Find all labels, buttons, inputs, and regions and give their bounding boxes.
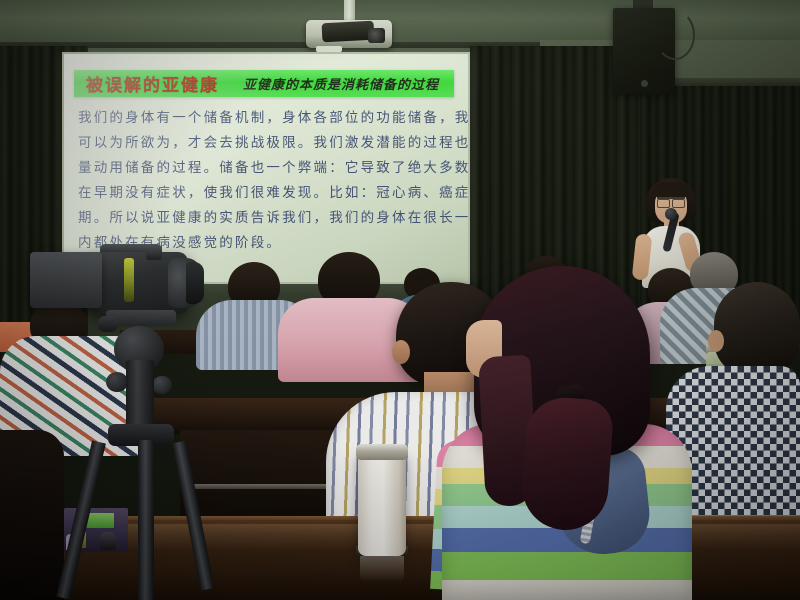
tripod-center-column <box>126 360 154 430</box>
lecture-hall-photo: 被误解的亚健康 亚健康的本质是消耗储备的过程 我们的身体有一个储备机制，身体各部… <box>0 0 800 600</box>
foreground-shadow-left <box>0 430 64 600</box>
slide-line: 量动用储备的过程。储备也一个弊端：它导致了绝大多数疾病 <box>78 156 454 181</box>
tripod-lock-knob-right[interactable] <box>152 376 172 394</box>
slide-line: 期。所以说亚健康的实质告诉我们，我们的身体在很长一段时 <box>78 206 454 231</box>
projector-lens <box>368 28 385 43</box>
slide-body-text: 我们的身体有一个储备机制，身体各部位的功能储备，我们才 可以为所欲为，才会去挑战… <box>78 106 454 256</box>
camcorder-record-button[interactable] <box>146 250 162 260</box>
presenter-fringe <box>652 182 690 197</box>
slide-banner: 被误解的亚健康 亚健康的本质是消耗储备的过程 <box>74 70 454 97</box>
slide-title: 被误解的亚健康 <box>86 71 219 96</box>
microphone-head-icon <box>665 208 677 220</box>
projector-cables <box>322 21 375 43</box>
attendee-ponytail <box>520 395 615 533</box>
lcd-figure <box>100 532 116 550</box>
thermos-reflection <box>360 556 404 582</box>
lcd-screen-reflection <box>86 513 114 528</box>
thermos-cap <box>356 444 408 460</box>
projector-mount-pole <box>344 0 355 22</box>
white-thermos-flask <box>358 452 406 556</box>
camcorder-lcd-housing <box>30 252 102 308</box>
camera-lens-hood <box>186 262 204 304</box>
tripod-leg <box>138 440 154 600</box>
speaker-driver-icon <box>641 80 648 87</box>
attendee-ear <box>392 340 410 364</box>
eyeglasses-icon <box>657 197 685 207</box>
slide-subtitle: 亚健康的本质是消耗储备的过程 <box>243 74 439 93</box>
slide-line: 在早期没有症状，使我们很难发现。比如：冠心病、癌症的早 <box>78 181 454 206</box>
tripod-tilt-knob[interactable] <box>98 316 118 332</box>
tripod-lock-knob-left[interactable] <box>106 372 128 392</box>
speaker-cable <box>655 10 695 60</box>
attendee-checkered-right-head <box>714 282 800 376</box>
camcorder-side-panel <box>124 258 134 302</box>
slide-line: 可以为所欲为，才会去挑战极限。我们激发潜能的过程也是大 <box>78 131 454 156</box>
slide-line: 我们的身体有一个储备机制，身体各部位的功能储备，我们才 <box>78 106 454 131</box>
attendee-ear <box>708 330 724 352</box>
